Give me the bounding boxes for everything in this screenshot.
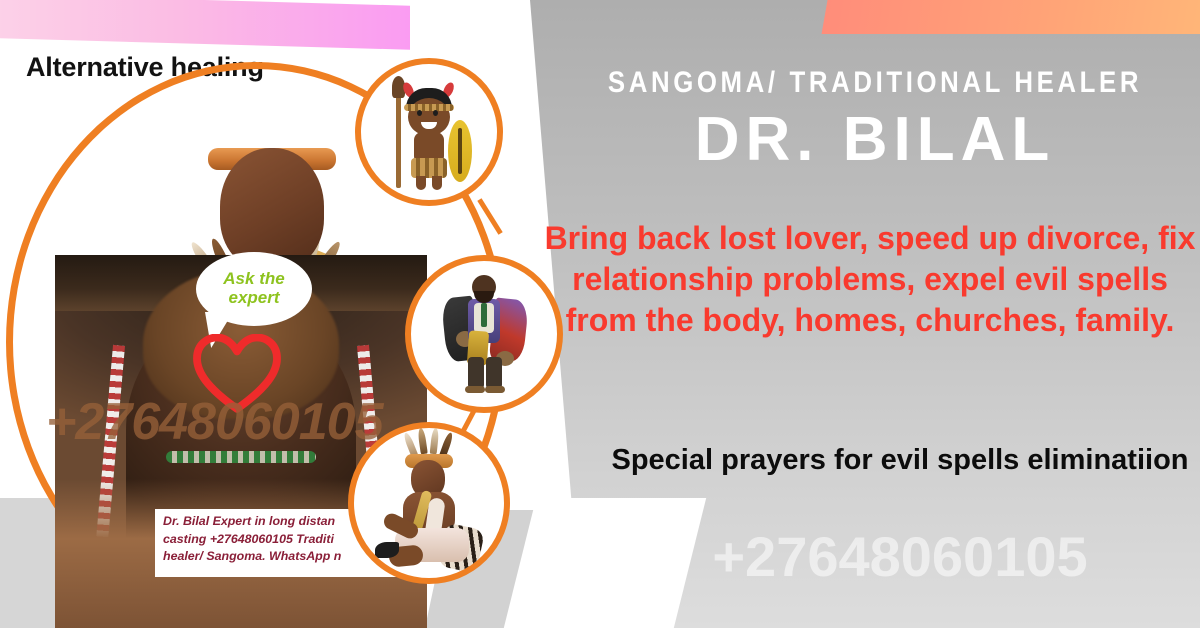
services-paragraph: Bring back lost lover, speed up divorce,… — [540, 218, 1200, 341]
headline-eyebrow: SANGOMA/ TRADITIONAL HEALER — [604, 66, 1146, 100]
warrior-headband — [404, 104, 454, 111]
feather-icon — [417, 428, 428, 455]
caption-line-3: healer/ Sangoma. WhatsApp n — [163, 548, 397, 566]
spear-icon — [396, 84, 401, 188]
healer-name-title: DR. BILAL — [560, 104, 1190, 175]
crouching-sangoma-icon — [365, 434, 493, 572]
photo-bead-necklace — [166, 451, 316, 463]
top-orange-banner — [822, 0, 1200, 34]
robed-shoe-left — [465, 386, 485, 393]
phone-watermark: +27648060105 — [600, 524, 1200, 589]
special-prayers-text: Special prayers for evil spells eliminat… — [600, 442, 1200, 480]
warrior-skirt — [411, 158, 447, 178]
robed-leg-right — [486, 357, 502, 389]
warrior-eye-left — [417, 110, 422, 116]
warrior-leg-right — [432, 176, 442, 190]
ask-the-expert-bubble: Ask the expert — [196, 252, 312, 326]
ask-the-expert-label: Ask the expert — [196, 270, 312, 307]
bird-icon — [375, 542, 399, 558]
warrior-leg-left — [416, 176, 426, 190]
shield-stripe — [458, 128, 462, 174]
robed-leg-left — [468, 357, 484, 389]
top-pink-banner — [0, 0, 410, 50]
robed-healer-icon — [438, 273, 530, 395]
robed-tie — [481, 303, 487, 327]
warrior-eye-right — [433, 110, 438, 116]
circle-badge-zulu-warrior — [355, 58, 503, 206]
circle-badge-crouching-sangoma — [348, 422, 510, 584]
feather-icon — [430, 428, 440, 455]
robed-shoe-right — [485, 386, 505, 393]
zulu-warrior-icon — [374, 74, 484, 190]
portrait-head — [220, 148, 324, 270]
poster-canvas: Alternative healing Ask the expert +2764 — [0, 0, 1200, 628]
